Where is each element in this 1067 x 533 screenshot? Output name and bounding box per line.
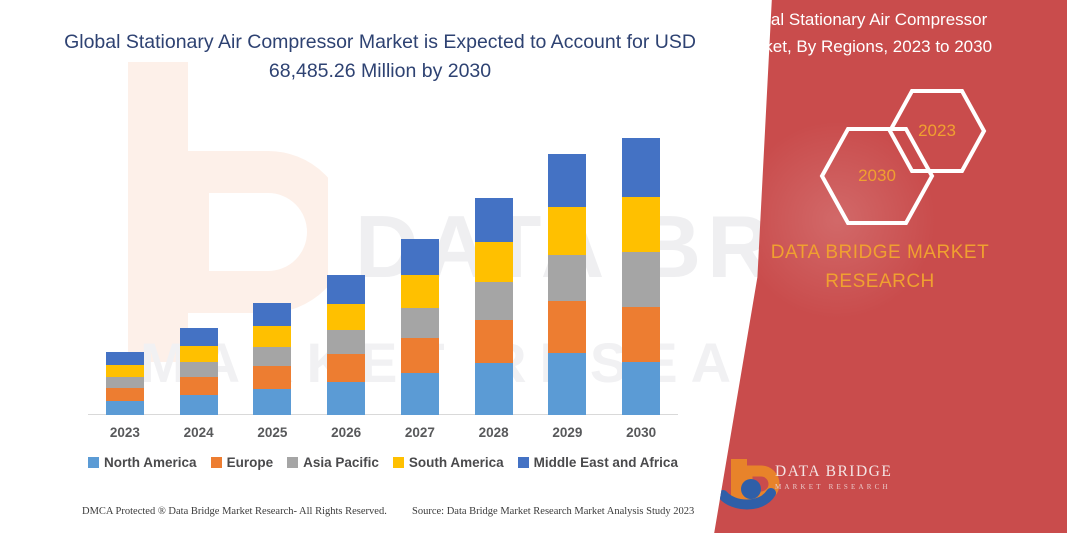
footer: DMCA Protected ® Data Bridge Market Rese…: [82, 506, 702, 517]
bar-segment: [106, 401, 144, 415]
hexagon-badge-2023: 2023: [887, 88, 987, 174]
bar-segment: [106, 377, 144, 388]
bar-segment: [548, 255, 586, 301]
infographic-root: DATA BRIDGE MARKET RESEARCH Global Stati…: [0, 0, 1067, 533]
bar-column: [475, 198, 513, 415]
bar-segment: [622, 307, 660, 362]
bar-segment: [548, 207, 586, 255]
brand-name-text: DATA BRIDGE MARKET RESEARCH: [735, 238, 1025, 296]
bar-segment: [253, 303, 291, 326]
bar-segment: [253, 389, 291, 415]
bar-segment: [622, 197, 660, 252]
x-axis-label: 2023: [95, 425, 155, 440]
bar-segment: [253, 326, 291, 347]
bar-segment: [180, 362, 218, 377]
data-bridge-logo-text: DATA BRIDGE MARKET RESEARCH: [775, 463, 892, 491]
legend-swatch: [88, 457, 99, 468]
legend-label: North America: [104, 455, 197, 470]
bar-column: [548, 154, 586, 415]
bar-column: [401, 239, 439, 415]
legend-swatch: [287, 457, 298, 468]
legend-item[interactable]: North America: [88, 455, 197, 470]
bar-segment: [327, 275, 365, 304]
legend-label: Asia Pacific: [303, 455, 379, 470]
x-axis-label: 2025: [242, 425, 302, 440]
chart-legend: North AmericaEuropeAsia PacificSouth Ame…: [88, 455, 678, 470]
chart-panel: Global Stationary Air Compressor Market …: [0, 0, 760, 533]
bar-segment: [548, 353, 586, 415]
x-axis-label: 2024: [169, 425, 229, 440]
bar-segment: [180, 328, 218, 346]
brand-panel: Global Stationary Air Compressor Market,…: [707, 0, 1067, 533]
bar-segment: [253, 347, 291, 366]
legend-item[interactable]: Europe: [211, 455, 274, 470]
footer-copyright: DMCA Protected ® Data Bridge Market Rese…: [82, 506, 412, 517]
bar-segment: [475, 363, 513, 415]
bar-segment: [180, 377, 218, 395]
bar-column: [622, 138, 660, 415]
bar-column: [253, 303, 291, 415]
legend-item[interactable]: South America: [393, 455, 504, 470]
bar-segment: [327, 304, 365, 330]
x-axis-label: 2028: [464, 425, 524, 440]
footer-source: Source: Data Bridge Market Research Mark…: [412, 506, 702, 517]
legend-item[interactable]: Middle East and Africa: [518, 455, 678, 470]
bar-segment: [622, 362, 660, 415]
legend-label: Europe: [227, 455, 274, 470]
logo-subtitle: MARKET RESEARCH: [775, 483, 892, 491]
bar-segment: [475, 198, 513, 242]
bar-segment: [327, 354, 365, 382]
bar-segment: [401, 373, 439, 415]
bar-segment: [548, 154, 586, 207]
bar-segment: [548, 301, 586, 353]
x-axis-label: 2029: [537, 425, 597, 440]
legend-swatch: [518, 457, 529, 468]
bar-segment: [401, 338, 439, 373]
x-axis-label: 2030: [611, 425, 671, 440]
bar-segment: [180, 395, 218, 415]
x-axis-label: 2027: [390, 425, 450, 440]
bar-segment: [475, 320, 513, 363]
bar-segment: [106, 388, 144, 401]
bar-segment: [401, 308, 439, 338]
legend-swatch: [393, 457, 404, 468]
bar-segment: [475, 282, 513, 320]
bar-segment: [106, 352, 144, 365]
legend-label: South America: [409, 455, 504, 470]
bar-segment: [622, 252, 660, 307]
hexagon-label-2030: 2030: [858, 166, 896, 186]
bar-segment: [327, 330, 365, 354]
chart-title: Global Stationary Air Compressor Market …: [60, 28, 700, 86]
bar-column: [180, 328, 218, 415]
legend-item[interactable]: Asia Pacific: [287, 455, 379, 470]
logo-name: DATA BRIDGE: [775, 463, 892, 481]
bar-segment: [253, 366, 291, 389]
bar-column: [327, 275, 365, 415]
bar-segment: [401, 275, 439, 308]
x-axis-labels: 20232024202520262027202820292030: [88, 421, 678, 443]
bar-column: [106, 352, 144, 415]
bar-segment: [106, 365, 144, 377]
bar-segment: [180, 346, 218, 362]
brand-panel-title: Global Stationary Air Compressor Market,…: [735, 6, 1025, 60]
bar-chart-plot: [88, 120, 678, 415]
hexagon-badges: 2030 2023: [797, 88, 1017, 208]
bar-segment: [401, 239, 439, 275]
bar-segment: [327, 382, 365, 415]
bar-segment: [622, 138, 660, 197]
bar-segment: [475, 242, 513, 282]
legend-swatch: [211, 457, 222, 468]
legend-label: Middle East and Africa: [534, 455, 678, 470]
x-axis-label: 2026: [316, 425, 376, 440]
hexagon-label-2023: 2023: [918, 121, 956, 141]
data-bridge-logo: DATA BRIDGE MARKET RESEARCH: [717, 455, 907, 513]
